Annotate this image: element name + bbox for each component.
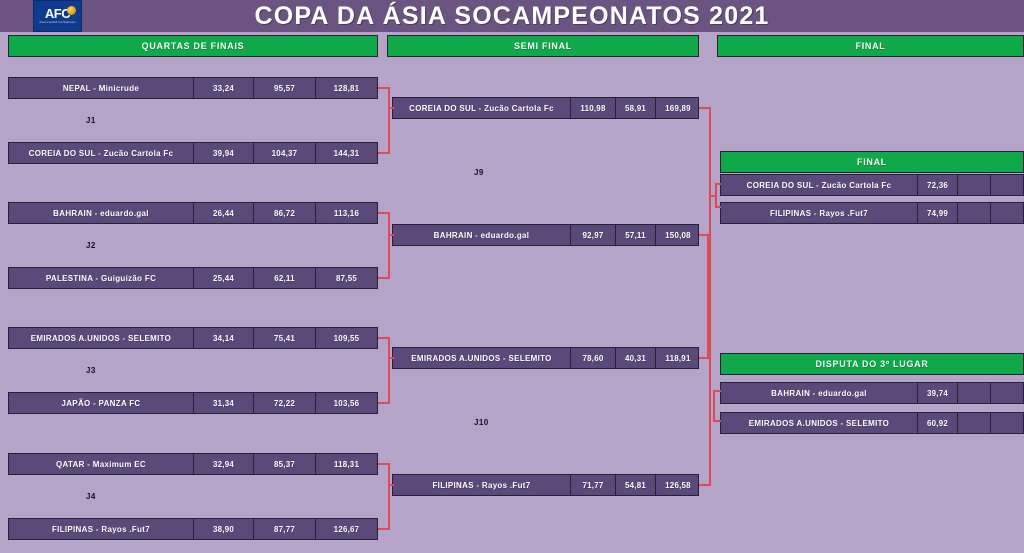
score-cell-2: 86,72: [254, 203, 316, 223]
team-name: FILIPINAS - Rayos .Fut7: [9, 519, 194, 539]
score-cell-total: [991, 175, 1023, 195]
table-row[interactable]: JAPÃO - PANZA FC 31,34 72,22 103,56: [8, 392, 378, 414]
score-cell-2: 75,41: [254, 328, 316, 348]
team-name: PALESTINA - Guiguizão FC: [9, 268, 194, 288]
score-cell-total: 118,31: [316, 454, 377, 474]
connector-line: [709, 107, 711, 485]
score-cell-2: 57,11: [616, 225, 656, 245]
match-label-j3: J3: [86, 366, 96, 375]
team-name: QATAR - Maximum EC: [9, 454, 194, 474]
score-cell-2: [958, 413, 991, 433]
table-row[interactable]: FILIPINAS - Rayos .Fut7 38,90 87,77 126,…: [8, 518, 378, 540]
connector-line: [388, 337, 390, 404]
round-header-final: FINAL: [717, 35, 1024, 57]
table-row[interactable]: BAHRAIN - eduardo.gal 26,44 86,72 113,16: [8, 202, 378, 224]
final-block-title: FINAL: [720, 151, 1024, 173]
score-cell-2: 54,81: [616, 475, 656, 495]
score-cell-total: 109,55: [316, 328, 377, 348]
score-cell-1: 78,60: [571, 348, 616, 368]
score-cell-2: [958, 203, 991, 223]
connector-line: [713, 420, 721, 422]
connector-line: [713, 390, 715, 422]
score-cell-total: 113,16: [316, 203, 377, 223]
table-row[interactable]: QATAR - Maximum EC 32,94 85,37 118,31: [8, 453, 378, 475]
connector-line: [388, 357, 394, 359]
afc-logo-subtitle: Asian Football Confederation: [39, 21, 75, 25]
match-label-j4: J4: [86, 492, 96, 501]
score-cell-total: 118,91: [656, 348, 700, 368]
table-row[interactable]: BAHRAIN - eduardo.gal 39,74: [720, 382, 1024, 404]
connector-line: [388, 463, 390, 530]
connector-line: [713, 390, 721, 392]
globe-icon: [67, 6, 76, 15]
team-name: BAHRAIN - eduardo.gal: [9, 203, 194, 223]
table-row[interactable]: COREIA DO SUL - Zucão Cartola Fc 39,94 1…: [8, 142, 378, 164]
score-cell-1: 38,90: [194, 519, 254, 539]
table-row[interactable]: NEPAL - Minicrude 33,24 95,57 128,81: [8, 77, 378, 99]
score-cell-total: 126,67: [316, 519, 377, 539]
score-cell-1: 26,44: [194, 203, 254, 223]
score-cell-1: 72,36: [918, 175, 958, 195]
score-cell-total: 169,89: [656, 98, 700, 118]
table-row[interactable]: FILIPINAS - Rayos .Fut7 71,77 54,81 126,…: [392, 474, 699, 496]
team-name: EMIRADOS A.UNIDOS - SELEMITO: [721, 413, 918, 433]
table-row[interactable]: EMIRADOS A.UNIDOS - SELEMITO 34,14 75,41…: [8, 327, 378, 349]
connector-line: [388, 107, 394, 109]
table-row[interactable]: PALESTINA - Guiguizão FC 25,44 62,11 87,…: [8, 267, 378, 289]
score-cell-1: 71,77: [571, 475, 616, 495]
team-name: NEPAL - Minicrude: [9, 78, 194, 98]
score-cell-total: 128,81: [316, 78, 377, 98]
match-label-j9: J9: [474, 168, 484, 177]
score-cell-2: [958, 175, 991, 195]
score-cell-1: 92,97: [571, 225, 616, 245]
connector-line: [707, 234, 709, 358]
score-cell-total: 103,56: [316, 393, 377, 413]
score-cell-2: 62,11: [254, 268, 316, 288]
table-row[interactable]: BAHRAIN - eduardo.gal 92,97 57,11 150,08: [392, 224, 699, 246]
score-cell-total: 87,55: [316, 268, 377, 288]
team-name: COREIA DO SUL - Zucão Cartola Fc: [721, 175, 918, 195]
afc-logo: AFC Asian Football Confederation: [33, 0, 82, 32]
score-cell-1: 74,99: [918, 203, 958, 223]
score-cell-2: 85,37: [254, 454, 316, 474]
score-cell-total: 144,31: [316, 143, 377, 163]
match-label-j10: J10: [474, 418, 489, 427]
connector-line: [388, 212, 390, 279]
score-cell-2: 104,37: [254, 143, 316, 163]
table-row[interactable]: COREIA DO SUL - Zucão Cartola Fc 72,36: [720, 174, 1024, 196]
score-cell-1: 33,24: [194, 78, 254, 98]
score-cell-1: 32,94: [194, 454, 254, 474]
score-cell-2: 40,31: [616, 348, 656, 368]
score-cell-1: 34,14: [194, 328, 254, 348]
score-cell-1: 60,92: [918, 413, 958, 433]
score-cell-1: 25,44: [194, 268, 254, 288]
table-row[interactable]: FILIPINAS - Rayos .Fut7 74,99: [720, 202, 1024, 224]
score-cell-2: 58,91: [616, 98, 656, 118]
score-cell-total: [991, 203, 1023, 223]
match-label-j1: J1: [86, 116, 96, 125]
score-cell-1: 39,74: [918, 383, 958, 403]
connector-line: [388, 234, 394, 236]
table-row[interactable]: EMIRADOS A.UNIDOS - SELEMITO 78,60 40,31…: [392, 347, 699, 369]
score-cell-1: 110,98: [571, 98, 616, 118]
connector-line: [715, 183, 717, 207]
team-name: EMIRADOS A.UNIDOS - SELEMITO: [9, 328, 194, 348]
team-name: BAHRAIN - eduardo.gal: [721, 383, 918, 403]
team-name: BAHRAIN - eduardo.gal: [393, 225, 571, 245]
match-label-j2: J2: [86, 241, 96, 250]
score-cell-1: 31,34: [194, 393, 254, 413]
score-cell-2: [958, 383, 991, 403]
connector-line: [715, 206, 721, 208]
score-cell-1: 39,94: [194, 143, 254, 163]
page-title: COPA DA ÁSIA SOCAMPEONATOS 2021: [0, 1, 1024, 31]
score-cell-2: 95,57: [254, 78, 316, 98]
team-name: FILIPINAS - Rayos .Fut7: [393, 475, 571, 495]
title-bar: COPA DA ÁSIA SOCAMPEONATOS 2021 AFC Asia…: [0, 0, 1024, 32]
third-place-title: DISPUTA DO 3º LUGAR: [720, 353, 1024, 375]
connector-line: [715, 183, 721, 185]
table-row[interactable]: COREIA DO SUL - Zucão Cartola Fc 110,98 …: [392, 97, 699, 119]
score-cell-total: [991, 413, 1023, 433]
connector-line: [388, 484, 394, 486]
round-header-semi: SEMI FINAL: [387, 35, 699, 57]
table-row[interactable]: EMIRADOS A.UNIDOS - SELEMITO 60,92: [720, 412, 1024, 434]
score-cell-total: 126,58: [656, 475, 700, 495]
team-name: EMIRADOS A.UNIDOS - SELEMITO: [393, 348, 571, 368]
round-header-quarters: QUARTAS DE FINAIS: [8, 35, 378, 57]
score-cell-2: 72,22: [254, 393, 316, 413]
score-cell-total: [991, 383, 1023, 403]
team-name: COREIA DO SUL - Zucão Cartola Fc: [9, 143, 194, 163]
team-name: FILIPINAS - Rayos .Fut7: [721, 203, 918, 223]
score-cell-total: 150,08: [656, 225, 700, 245]
score-cell-2: 87,77: [254, 519, 316, 539]
team-name: JAPÃO - PANZA FC: [9, 393, 194, 413]
bracket-page: COPA DA ÁSIA SOCAMPEONATOS 2021 AFC Asia…: [0, 0, 1024, 553]
connector-line: [388, 87, 390, 154]
team-name: COREIA DO SUL - Zucão Cartola Fc: [393, 98, 571, 118]
